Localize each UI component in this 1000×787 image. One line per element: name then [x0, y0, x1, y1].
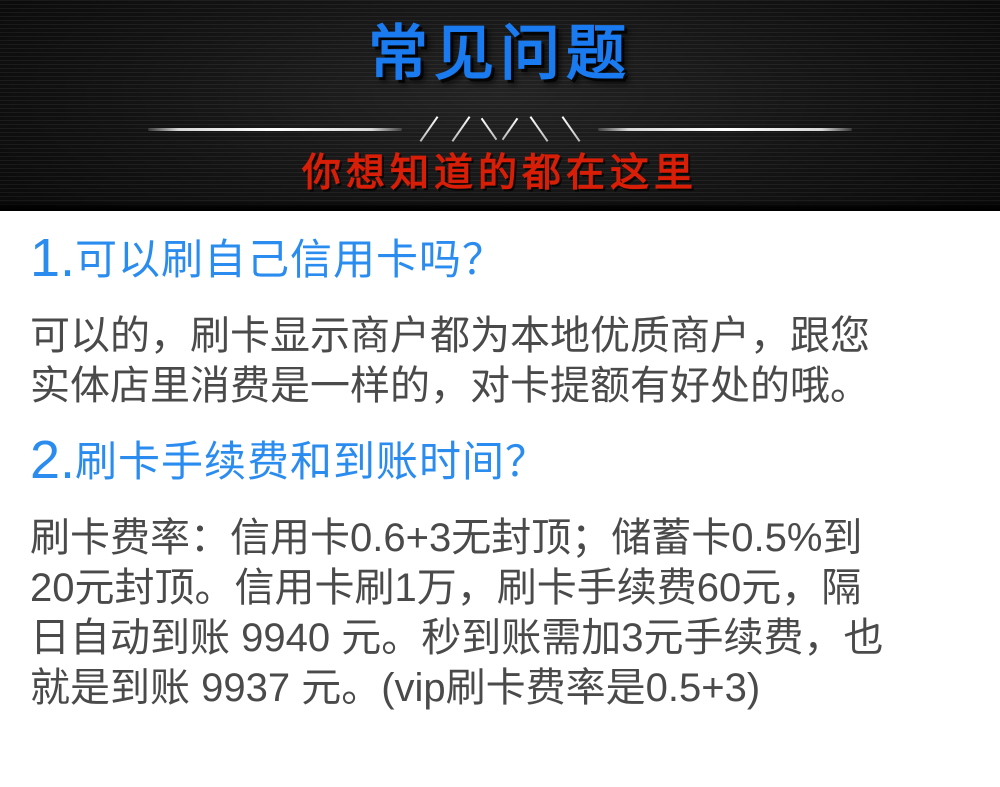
faq-number-1: 1. [30, 228, 75, 288]
faq-question-1: 1.可以刷自己信用卡吗？ [30, 227, 976, 301]
answer-line: 刷卡费率：信用卡0.6+3无封顶；储蓄卡0.5%到 [30, 513, 976, 563]
faq-question-text-2: 刷卡手续费和到账时间？ [75, 438, 548, 485]
divider-line-left [148, 128, 402, 131]
faq-item-2: 2.刷卡手续费和到账时间？ 刷卡费率：信用卡0.6+3无封顶；储蓄卡0.5%到 … [30, 429, 976, 713]
answer-line: 20元封顶。信用卡刷1万，刷卡手续费60元，隔 [30, 563, 976, 613]
divider-chevron-ornament-icon [402, 112, 598, 146]
answer-line: 实体店里消费是一样的，对卡提额有好处的哦。 [30, 361, 976, 411]
faq-answer-1: 可以的，刷卡显示商户都为本地优质商户，跟您 实体店里消费是一样的，对卡提额有好处… [30, 311, 976, 411]
faq-question-2: 2.刷卡手续费和到账时间？ [30, 429, 976, 503]
answer-line: 就是到账 9937 元。(vip刷卡费率是0.5+3) [30, 663, 976, 713]
answer-line: 可以的，刷卡显示商户都为本地优质商户，跟您 [30, 311, 976, 361]
faq-number-2: 2. [30, 430, 75, 490]
answer-line: 日自动到账 9940 元。秒到账需加3元手续费，也 [30, 613, 976, 663]
faq-list: 1.可以刷自己信用卡吗？ 可以的，刷卡显示商户都为本地优质商户，跟您 实体店里消… [0, 227, 1000, 713]
ornament-stroke [530, 116, 549, 142]
ornament-stroke [420, 116, 439, 142]
faq-answer-2: 刷卡费率：信用卡0.6+3无封顶；储蓄卡0.5%到 20元封顶。信用卡刷1万，刷… [30, 513, 976, 713]
faq-item-1: 1.可以刷自己信用卡吗？ 可以的，刷卡显示商户都为本地优质商户，跟您 实体店里消… [30, 227, 976, 411]
ornament-stroke [502, 118, 519, 140]
ornament-stroke [562, 116, 581, 142]
banner-divider [0, 112, 1000, 146]
divider-line-right [598, 128, 852, 131]
banner-title: 常见问题 [0, 18, 1000, 90]
ornament-stroke [452, 116, 471, 142]
faq-banner: 常见问题 你想知道的都在这里 [0, 0, 1000, 211]
banner-subtitle: 你想知道的都在这里 [0, 150, 1000, 198]
faq-question-text-1: 可以刷自己信用卡吗？ [75, 236, 505, 283]
ornament-stroke [481, 118, 498, 140]
